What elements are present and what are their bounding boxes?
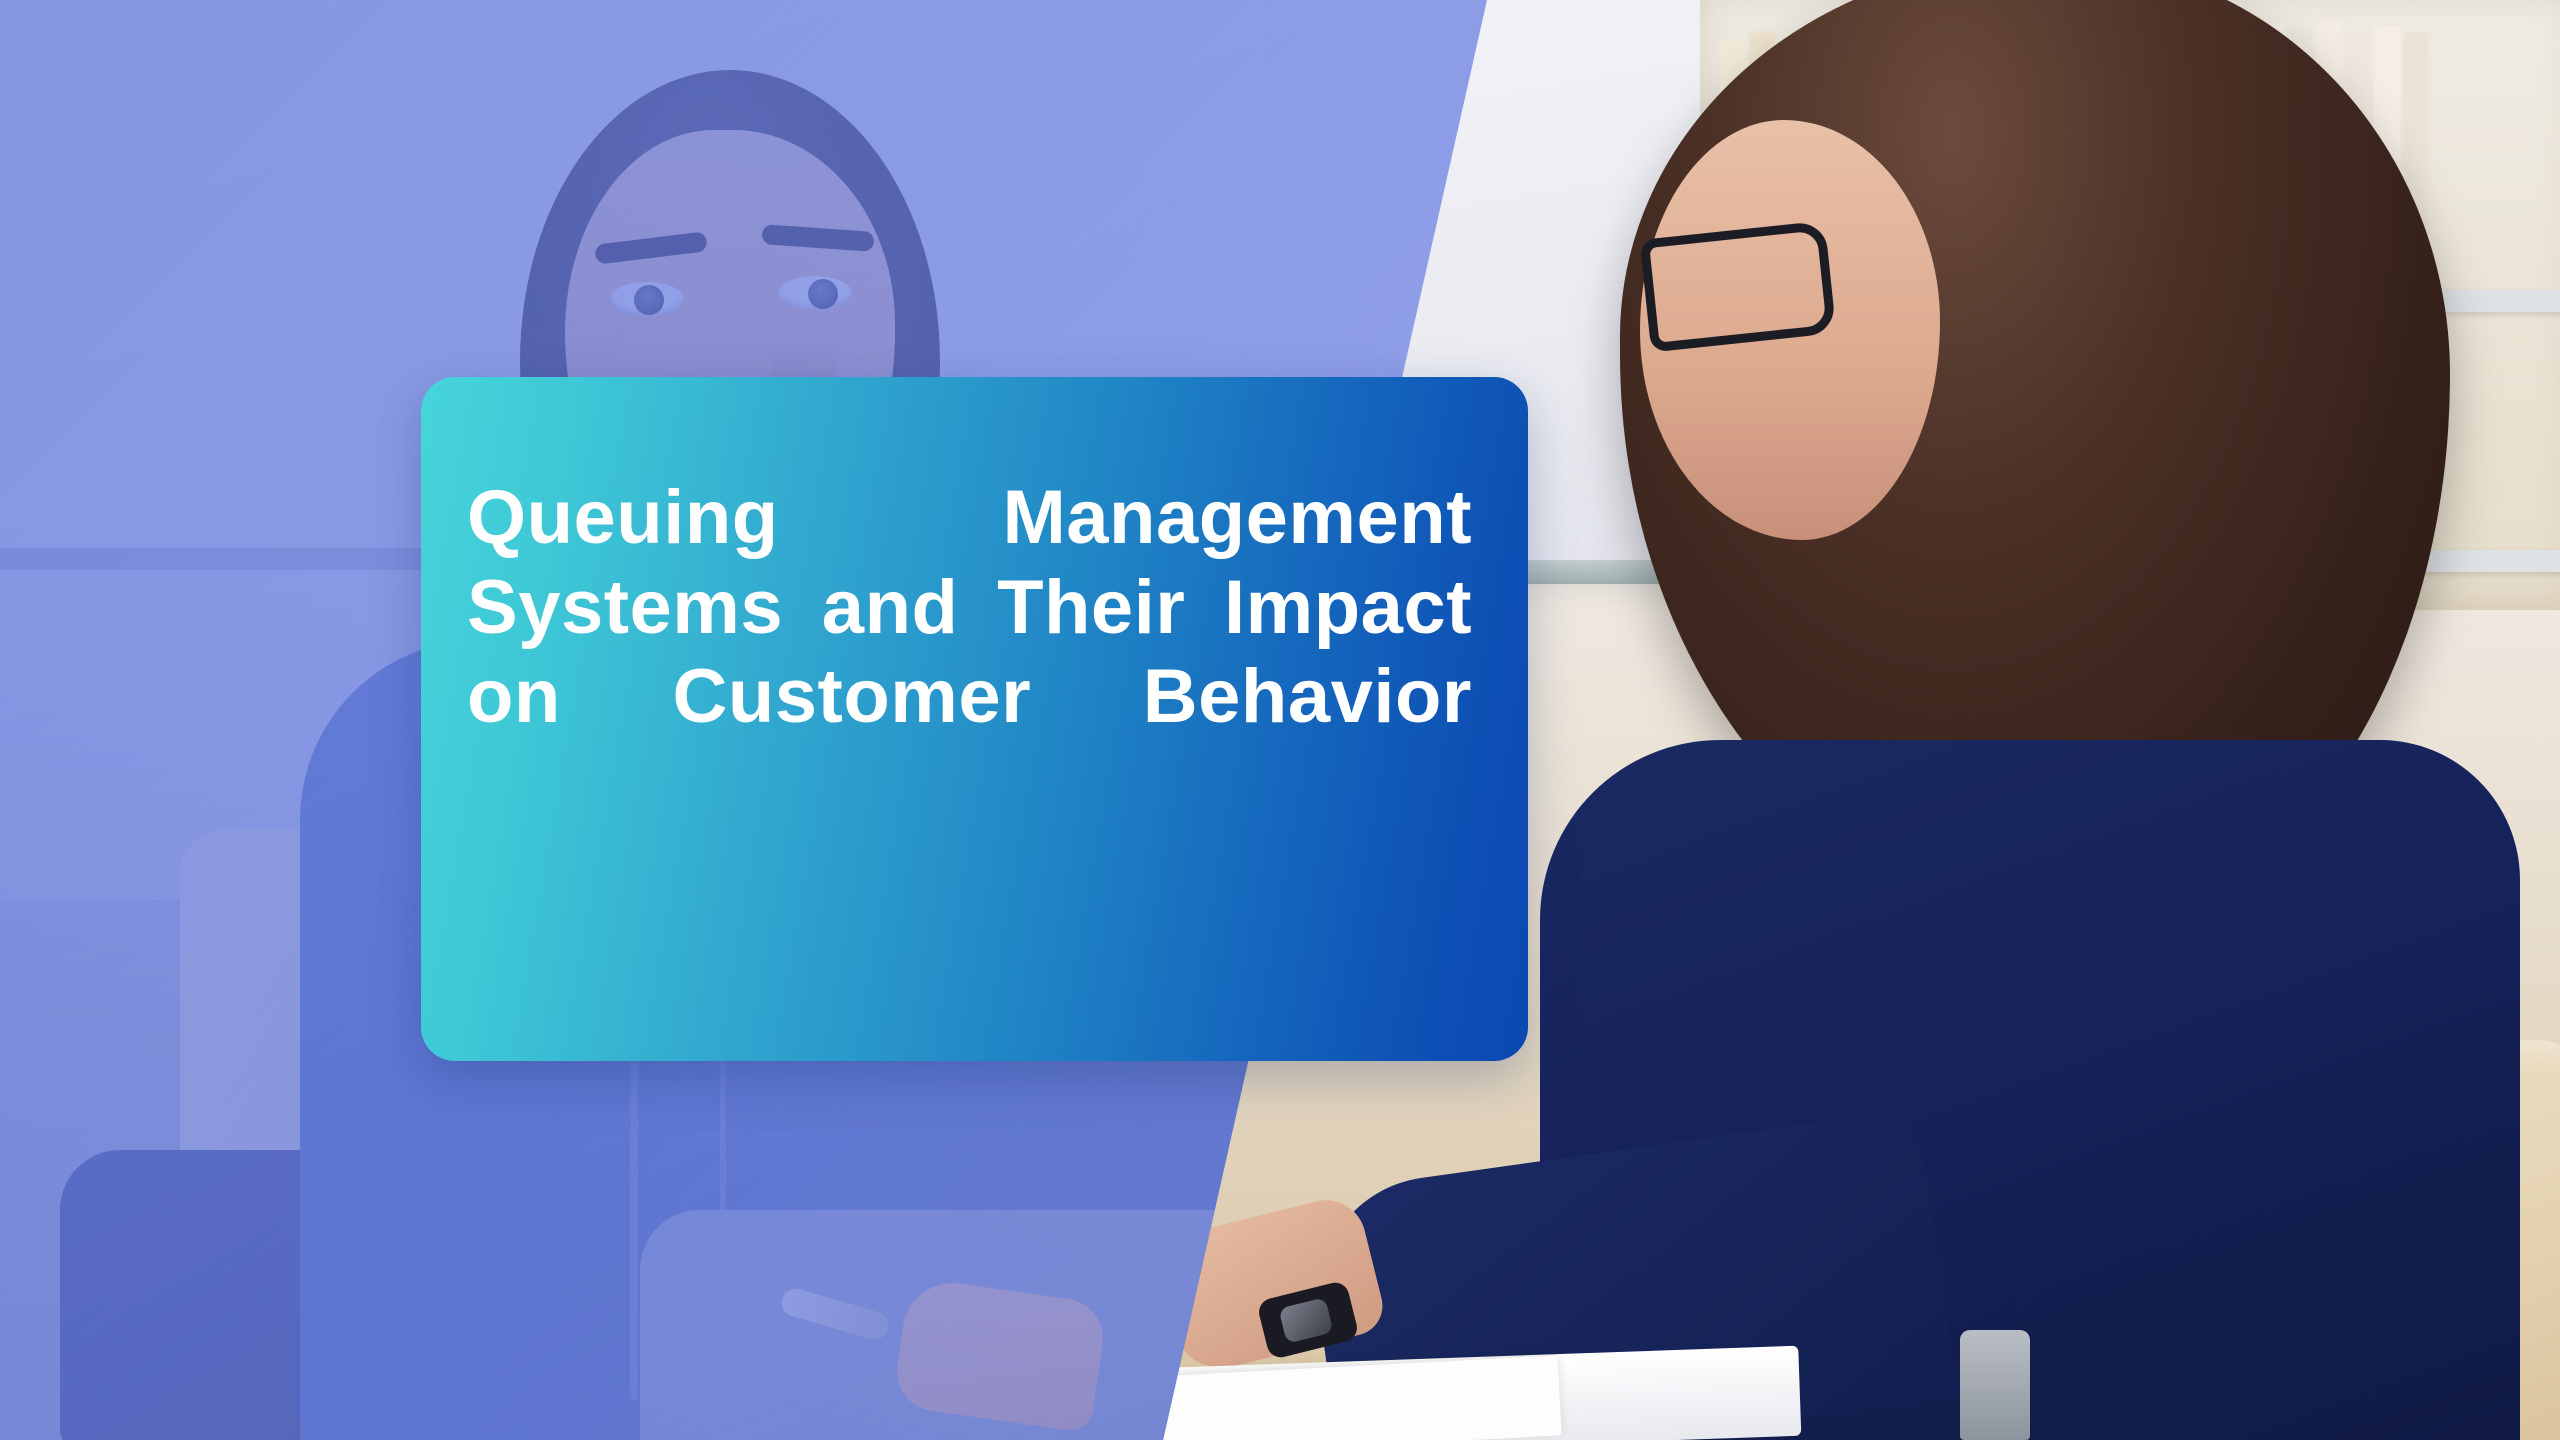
eyeglasses — [1640, 221, 1837, 353]
page-title: Queuing Management Systems and Their Imp… — [467, 473, 1472, 832]
hero-banner: Queuing Management Systems and Their Imp… — [0, 0, 2560, 1440]
bottle — [1960, 1330, 2030, 1440]
title-card: Queuing Management Systems and Their Imp… — [421, 377, 1528, 1061]
